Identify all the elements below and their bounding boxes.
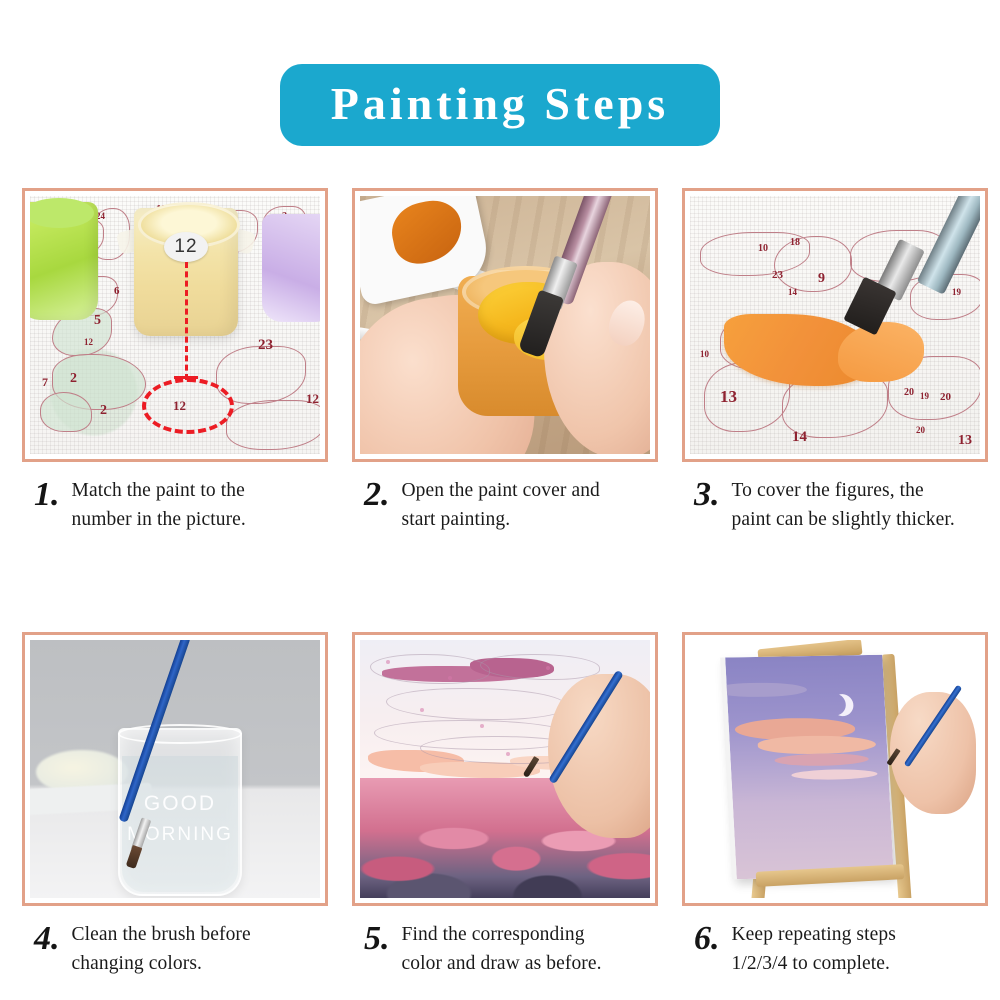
step-3-caption: 3. To cover the figures, the paint can b… — [682, 476, 988, 535]
step-text-line-1: Match the paint to the — [72, 476, 246, 505]
finished-painting-on-easel-photo — [690, 640, 980, 898]
step-1-caption: 1. Match the paint to the number in the … — [22, 476, 328, 535]
step-5-caption: 5. Find the corresponding color and draw… — [352, 920, 658, 979]
step-text-line-2: changing colors. — [72, 949, 251, 978]
canvas-number: 2 — [70, 372, 77, 386]
canvas-number: 12 — [84, 338, 93, 347]
hand — [890, 692, 976, 814]
canvas-number: 14 — [792, 430, 807, 445]
step-card-2: 2. Open the paint cover and start painti… — [352, 188, 658, 535]
canvas-number: 9 — [818, 272, 825, 286]
step-number: 1. — [34, 476, 60, 512]
step-text: Clean the brush before changing colors. — [72, 920, 251, 979]
paint-pot-green — [30, 202, 98, 320]
painting-steps-infographic: Painting Steps — [0, 0, 1000, 1000]
step-2-caption: 2. Open the paint cover and start painti… — [352, 476, 658, 535]
paint-pot-purple — [262, 214, 320, 322]
step-6-caption: 6. Keep repeating steps 1/2/3/4 to compl… — [682, 920, 988, 979]
red-dashed-connector — [185, 262, 188, 380]
target-number-label: 12 — [173, 398, 186, 414]
brush-rinsing-in-water-glass-photo: GOOD MORNING — [30, 640, 320, 898]
water-glass: GOOD MORNING — [118, 728, 242, 896]
step-card-6: 6. Keep repeating steps 1/2/3/4 to compl… — [682, 632, 988, 979]
canvas-number: 5 — [94, 314, 101, 328]
step-text: Keep repeating steps 1/2/3/4 to complete… — [732, 920, 896, 979]
step-text: Open the paint cover and start painting. — [402, 476, 600, 535]
canvas-number: 18 — [790, 238, 800, 248]
canvas-number: 10 — [758, 244, 768, 254]
step-6-photo-frame — [682, 632, 988, 906]
red-dashed-highlight-ellipse — [142, 378, 234, 434]
canvas-number: 13 — [958, 434, 972, 448]
finished-canvas — [720, 654, 894, 879]
open-paint-pot-with-brush-photo — [360, 196, 650, 454]
paint-pot-matching-number-photo: 12 24 2 7 6 5 12 2 7 2 23 24 23 12 — [30, 196, 320, 454]
canvas-number: 20 — [916, 426, 925, 435]
step-1-photo-frame: 12 24 2 7 6 5 12 2 7 2 23 24 23 12 — [22, 188, 328, 462]
canvas-number: 14 — [788, 288, 797, 297]
step-text-line-1: Find the corresponding — [402, 920, 602, 949]
step-text: Match the paint to the number in the pic… — [72, 476, 246, 535]
orange-paint-stroke-on-canvas-photo: 10 18 23 9 14 20 19 20 10 20 13 14 20 19… — [690, 196, 980, 454]
step-text-line-2: 1/2/3/4 to complete. — [732, 949, 896, 978]
step-number: 6. — [694, 920, 720, 956]
step-card-5: 5. Find the corresponding color and draw… — [352, 632, 658, 979]
canvas-number: 19 — [952, 288, 961, 297]
step-text-line-1: Clean the brush before — [72, 920, 251, 949]
step-text-line-2: number in the picture. — [72, 505, 246, 534]
steps-grid: 12 24 2 7 6 5 12 2 7 2 23 24 23 12 — [22, 188, 988, 978]
header: Painting Steps — [0, 64, 1000, 146]
step-text: To cover the figures, the paint can be s… — [732, 476, 955, 535]
canvas-number: 7 — [42, 376, 48, 388]
canvas-number: 10 — [700, 350, 709, 359]
step-4-caption: 4. Clean the brush before changing color… — [22, 920, 328, 979]
canvas-number: 6 — [114, 286, 120, 297]
step-card-3: 10 18 23 9 14 20 19 20 10 20 13 14 20 19… — [682, 188, 988, 535]
painted-cherry-blossoms — [726, 752, 894, 879]
step-4-photo-frame: GOOD MORNING — [22, 632, 328, 906]
pot-number-label: 12 — [164, 232, 208, 262]
step-text-line-1: To cover the figures, the — [732, 476, 955, 505]
canvas-number: 12 — [306, 392, 319, 405]
canvas-number: 20 — [940, 392, 951, 403]
partly-painted-cherry-blossom-canvas-photo — [360, 640, 650, 898]
step-number: 2. — [364, 476, 390, 512]
canvas-number: 13 — [720, 388, 737, 405]
step-card-1: 12 24 2 7 6 5 12 2 7 2 23 24 23 12 — [22, 188, 328, 535]
step-number: 4. — [34, 920, 60, 956]
glass-rim — [118, 724, 242, 744]
step-card-4: GOOD MORNING 4. Clean the brush before c… — [22, 632, 328, 979]
glass-text-line-1: GOOD — [120, 792, 240, 816]
canvas-number: 19 — [920, 392, 929, 401]
step-2-photo-frame — [352, 188, 658, 462]
step-text-line-2: paint can be slightly thicker. — [732, 505, 955, 534]
title-pill: Painting Steps — [280, 64, 720, 146]
step-text-line-2: color and draw as before. — [402, 949, 602, 978]
page-title: Painting Steps — [328, 80, 672, 128]
canvas-number: 20 — [904, 388, 914, 398]
step-3-photo-frame: 10 18 23 9 14 20 19 20 10 20 13 14 20 19… — [682, 188, 988, 462]
step-number: 3. — [694, 476, 720, 512]
step-text: Find the corresponding color and draw as… — [402, 920, 602, 979]
canvas-number: 2 — [100, 404, 107, 418]
step-5-photo-frame — [352, 632, 658, 906]
step-number: 5. — [364, 920, 390, 956]
canvas-number: 23 — [258, 338, 273, 353]
step-text-line-1: Open the paint cover and — [402, 476, 600, 505]
canvas-number: 23 — [772, 270, 783, 281]
step-text-line-1: Keep repeating steps — [732, 920, 896, 949]
step-text-line-2: start painting. — [402, 505, 600, 534]
